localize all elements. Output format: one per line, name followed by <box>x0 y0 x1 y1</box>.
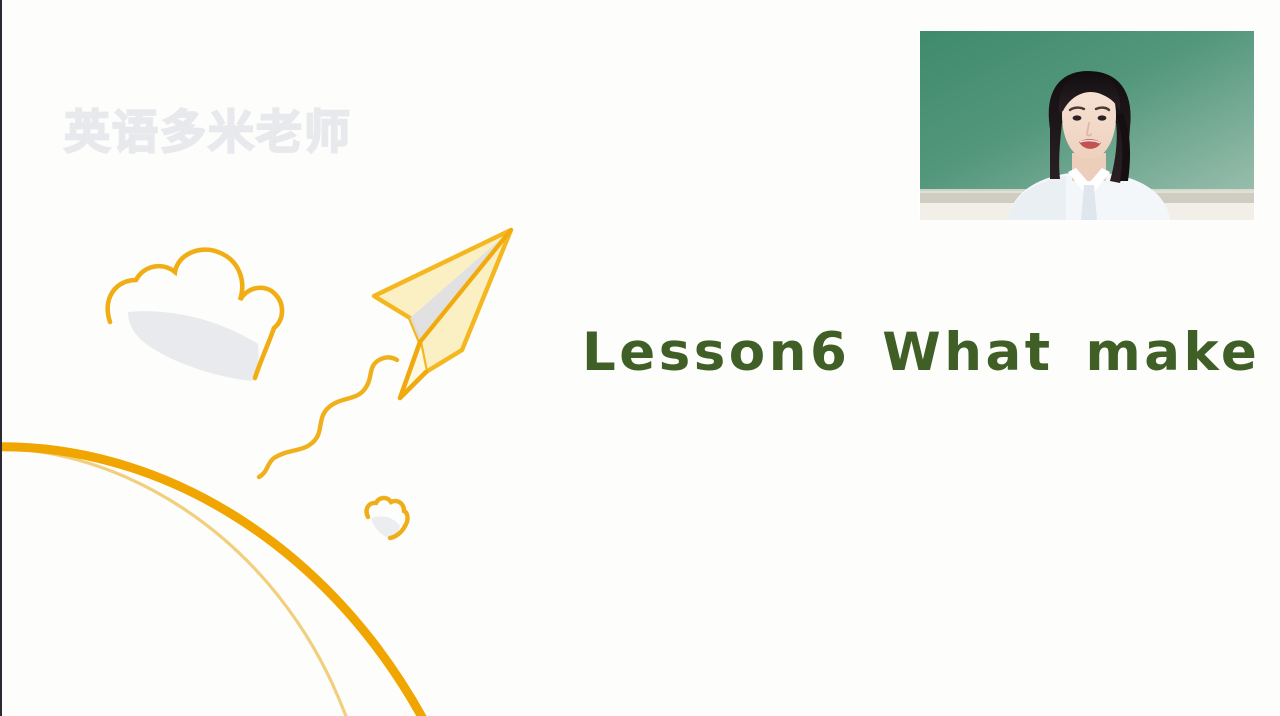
cloud-small-icon <box>367 498 408 538</box>
cloud-large-icon <box>108 250 282 378</box>
cloud-small-shadow <box>371 516 400 538</box>
channel-watermark: 英语多米老师 <box>64 96 352 162</box>
webcam-frame <box>920 31 1254 220</box>
eye-left <box>1073 115 1082 120</box>
paper-plane-icon <box>374 230 511 398</box>
wavy-trail-icon <box>259 357 397 477</box>
arc-thick-icon <box>2 447 502 716</box>
arc-thin-icon <box>2 448 410 716</box>
eye-right <box>1098 115 1107 120</box>
teacher-webcam-inset[interactable] <box>920 31 1254 220</box>
page-title: Lesson6 What make is it? <box>582 322 1280 383</box>
slide-canvas: 英语多米老师 Lesson6 What make is it? <box>0 0 1280 716</box>
cloud-large-shadow <box>128 311 259 381</box>
